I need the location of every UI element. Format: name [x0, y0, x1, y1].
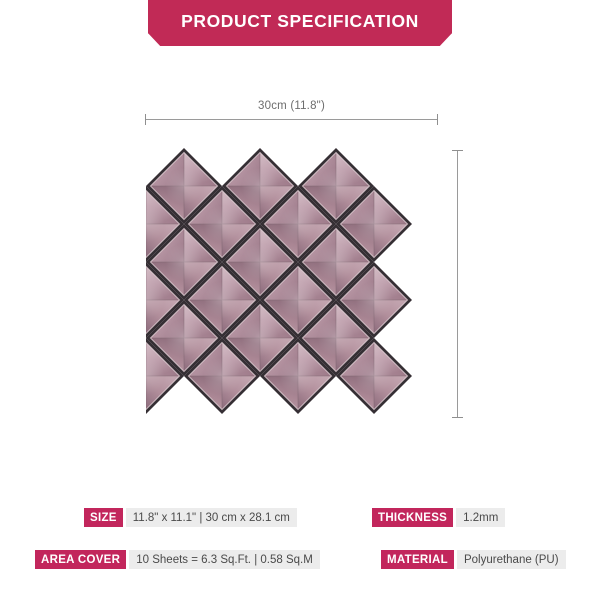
page-title: PRODUCT SPECIFICATION: [148, 0, 452, 46]
dimension-height-line: [457, 150, 458, 418]
dimension-width-cap-right: [437, 114, 438, 125]
tile-pattern-svg: [141, 143, 443, 421]
spec-label-material: MATERIAL: [381, 550, 454, 569]
header-banner: PRODUCT SPECIFICATION: [148, 0, 452, 46]
spec-value-thickness: 1.2mm: [456, 508, 505, 527]
dimension-width-label: 30cm (11.8"): [145, 100, 438, 112]
spec-value-area-cover: 10 Sheets = 6.3 Sq.Ft. | 0.58 Sq.M: [129, 550, 320, 569]
product-tile-image: [141, 143, 443, 421]
spec-row-thickness: THICKNESS 1.2mm: [372, 508, 505, 527]
spec-row-material: MATERIAL Polyurethane (PU): [381, 550, 566, 569]
tile-grid: [141, 148, 412, 414]
spec-row-area-cover: AREA COVER 10 Sheets = 6.3 Sq.Ft. | 0.58…: [35, 550, 320, 569]
spec-label-size: SIZE: [84, 508, 123, 527]
spec-value-material: Polyurethane (PU): [457, 550, 566, 569]
dimension-height-cap-bottom: [452, 417, 463, 418]
spec-value-size: 11.8" x 11.1" | 30 cm x 28.1 cm: [126, 508, 297, 527]
dimension-height: 28.1cm (11.1"): [440, 150, 490, 418]
specification-table: SIZE 11.8" x 11.1" | 30 cm x 28.1 cm THI…: [0, 500, 600, 590]
dimension-width: 30cm (11.8"): [145, 100, 438, 130]
spec-row-size: SIZE 11.8" x 11.1" | 30 cm x 28.1 cm: [84, 508, 297, 527]
dimension-height-cap-top: [452, 150, 463, 151]
dimension-width-cap-left: [145, 114, 146, 125]
spec-label-area-cover: AREA COVER: [35, 550, 126, 569]
spec-label-thickness: THICKNESS: [372, 508, 453, 527]
dimension-height-label: 28.1cm (11.1"): [451, 207, 463, 284]
dimension-width-line: [145, 119, 438, 120]
